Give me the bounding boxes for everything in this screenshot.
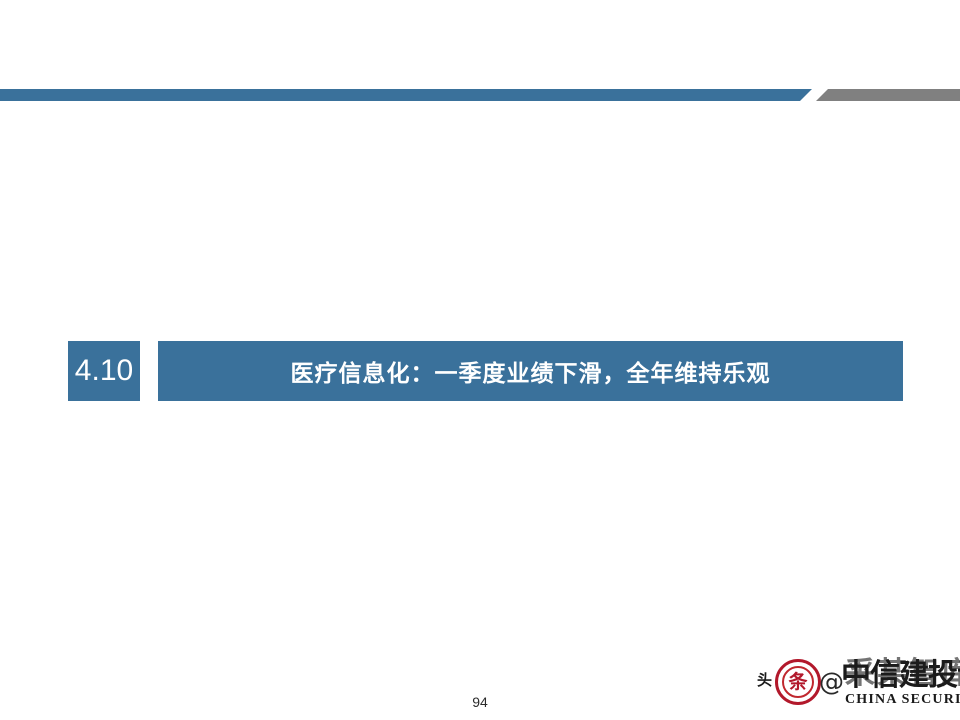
section-number-box: 4.10 <box>68 341 140 401</box>
watermark-seal-icon: 条 <box>775 659 821 705</box>
section-heading-band: 4.10 医疗信息化：一季度业绩下滑，全年维持乐观 <box>0 341 960 401</box>
section-title-bar: 医疗信息化：一季度业绩下滑，全年维持乐观 <box>158 341 903 401</box>
watermark-overlay-text: 采某智库券 <box>845 657 960 691</box>
page-title: 医疗信息化：一季度业绩下滑，全年维持乐观 <box>291 354 771 388</box>
gray-accent-rule <box>816 89 960 101</box>
top-accent-rule-group <box>0 88 960 102</box>
footer-logo-cluster: 头 条 @ 中信建投证券 采某智库券 CHINA SECURITIES <box>757 655 960 713</box>
blue-accent-rule <box>0 89 812 101</box>
watermark-seal-glyph: 条 <box>778 662 818 702</box>
watermark-toutiao-left-glyph: 头 <box>757 673 777 689</box>
company-logo-english: CHINA SECURITIES <box>845 692 960 708</box>
